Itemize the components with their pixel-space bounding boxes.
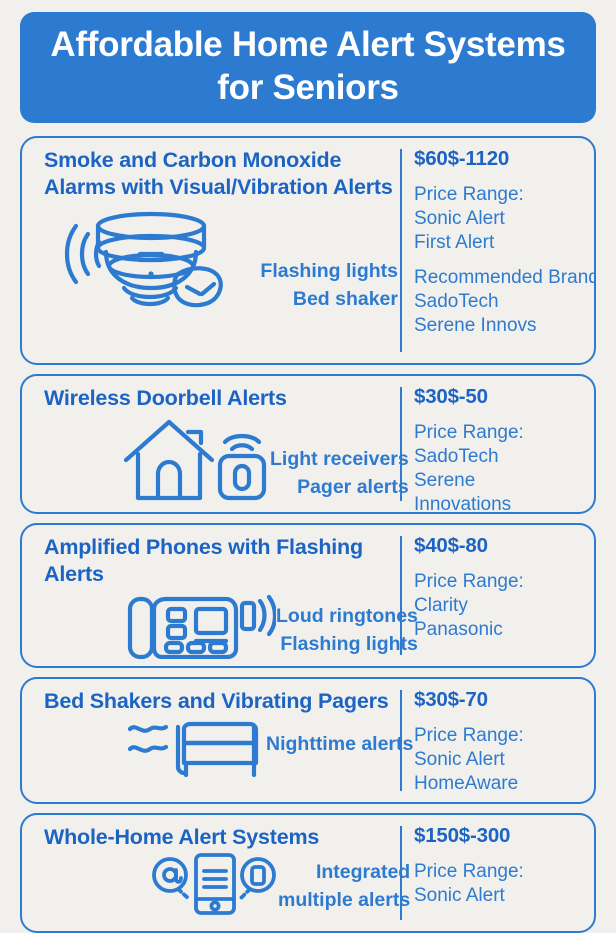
brand-item: HomeAware — [414, 772, 594, 796]
price-value: $30$-50 — [414, 385, 594, 410]
price-range-label: Price Range: — [414, 421, 594, 445]
card-left-column: Wireless Doorbell Alerts — [22, 376, 400, 512]
infographic-page: Affordable Home Alert Systems for Senior… — [0, 0, 616, 924]
price-value: $40$-80 — [414, 534, 594, 559]
brand-item: Serene — [414, 469, 594, 493]
card-feature: Pager alerts — [270, 474, 409, 502]
card-feature-list: Nighttime alerts — [266, 731, 415, 763]
card-title: Smoke and Carbon Monoxide Alarms with Vi… — [44, 147, 400, 199]
card-feature: Nighttime alerts — [266, 731, 413, 759]
card-right-column: $60$-1120 Price Range: Sonic Alert First… — [402, 138, 594, 363]
alert-card-whole-home[interactable]: Whole-Home Alert Systems — [20, 813, 596, 933]
brand-item: Clarity — [414, 594, 594, 618]
card-left-column: Smoke and Carbon Monoxide Alarms with Vi… — [22, 138, 400, 363]
card-title: Wireless Doorbell Alerts — [44, 385, 400, 411]
card-right-column: $30$-70 Price Range: Sonic Alert HomeAwa… — [402, 679, 594, 802]
card-left-column: Bed Shakers and Vibrating Pagers — [22, 679, 400, 802]
card-title: Amplified Phones with Flashing Alerts — [44, 534, 400, 586]
card-title: Bed Shakers and Vibrating Pagers — [44, 688, 400, 714]
vibrating-bed-icon — [126, 715, 266, 779]
card-right-column: $150$-300 Price Range: Sonic Alert — [402, 815, 594, 931]
recommended-brands-label: Recommended Brands — [414, 266, 594, 290]
card-feature: Light receivers — [270, 446, 409, 474]
card-feature: Flashing lights — [226, 258, 398, 286]
price-value: $60$-1120 — [414, 147, 594, 172]
brand-item: First Alert — [414, 231, 594, 255]
smoke-detector-icon — [54, 204, 226, 312]
brand-item: Panasonic — [414, 618, 594, 642]
brand-item: Serene Innovs — [414, 314, 594, 338]
card-title: Whole-Home Alert Systems — [44, 824, 400, 850]
card-right-column: $40$-80 Price Range: Clarity Panasonic — [402, 525, 594, 666]
title-banner: Affordable Home Alert Systems for Senior… — [20, 12, 596, 123]
price-range-label: Price Range: — [414, 183, 594, 207]
brand-item: SadoTech — [414, 290, 594, 314]
alert-card-wireless-doorbell[interactable]: Wireless Doorbell Alerts — [20, 374, 596, 514]
desk-phone-icon — [126, 587, 276, 659]
card-left-column: Amplified Phones with Flashing Alerts — [22, 525, 400, 666]
card-feature-list: Loud ringtones Flashing lights — [276, 603, 420, 658]
card-feature: Flashing lights — [276, 631, 418, 659]
card-feature: Loud ringtones — [276, 603, 418, 631]
price-range-label: Price Range: — [414, 860, 594, 884]
card-left-column: Whole-Home Alert Systems — [22, 815, 400, 931]
page-title: Affordable Home Alert Systems for Senior… — [30, 24, 586, 109]
card-feature-list: Integrated multiple alerts — [278, 859, 410, 914]
price-value: $150$-300 — [414, 824, 594, 849]
tablet-hub-icon — [152, 853, 278, 915]
price-range-label: Price Range: — [414, 724, 594, 748]
card-feature: multiple alerts — [278, 887, 410, 915]
price-range-label: Price Range: — [414, 570, 594, 594]
card-feature-list: Flashing lights Bed shaker — [226, 258, 400, 313]
card-feature-list: Light receivers Pager alerts — [270, 446, 411, 501]
card-feature: Bed shaker — [226, 286, 398, 314]
card-right-column: $30$-50 Price Range: SadoTech Serene Inn… — [402, 376, 594, 512]
alert-card-smoke-co-alarms[interactable]: Smoke and Carbon Monoxide Alarms with Vi… — [20, 136, 596, 365]
alert-card-amplified-phones[interactable]: Amplified Phones with Flashing Alerts — [20, 523, 596, 668]
card-feature: Integrated — [278, 859, 410, 887]
brand-item: SadoTech — [414, 445, 594, 469]
brand-item: Sonic Alert — [414, 884, 594, 908]
brand-item: Innovations — [414, 493, 594, 513]
house-doorbell-icon — [122, 416, 270, 502]
price-value: $30$-70 — [414, 688, 594, 713]
brand-item: Sonic Alert — [414, 748, 594, 772]
alert-card-bed-shakers[interactable]: Bed Shakers and Vibrating Pagers — [20, 677, 596, 804]
brand-item: Sonic Alert — [414, 207, 594, 231]
